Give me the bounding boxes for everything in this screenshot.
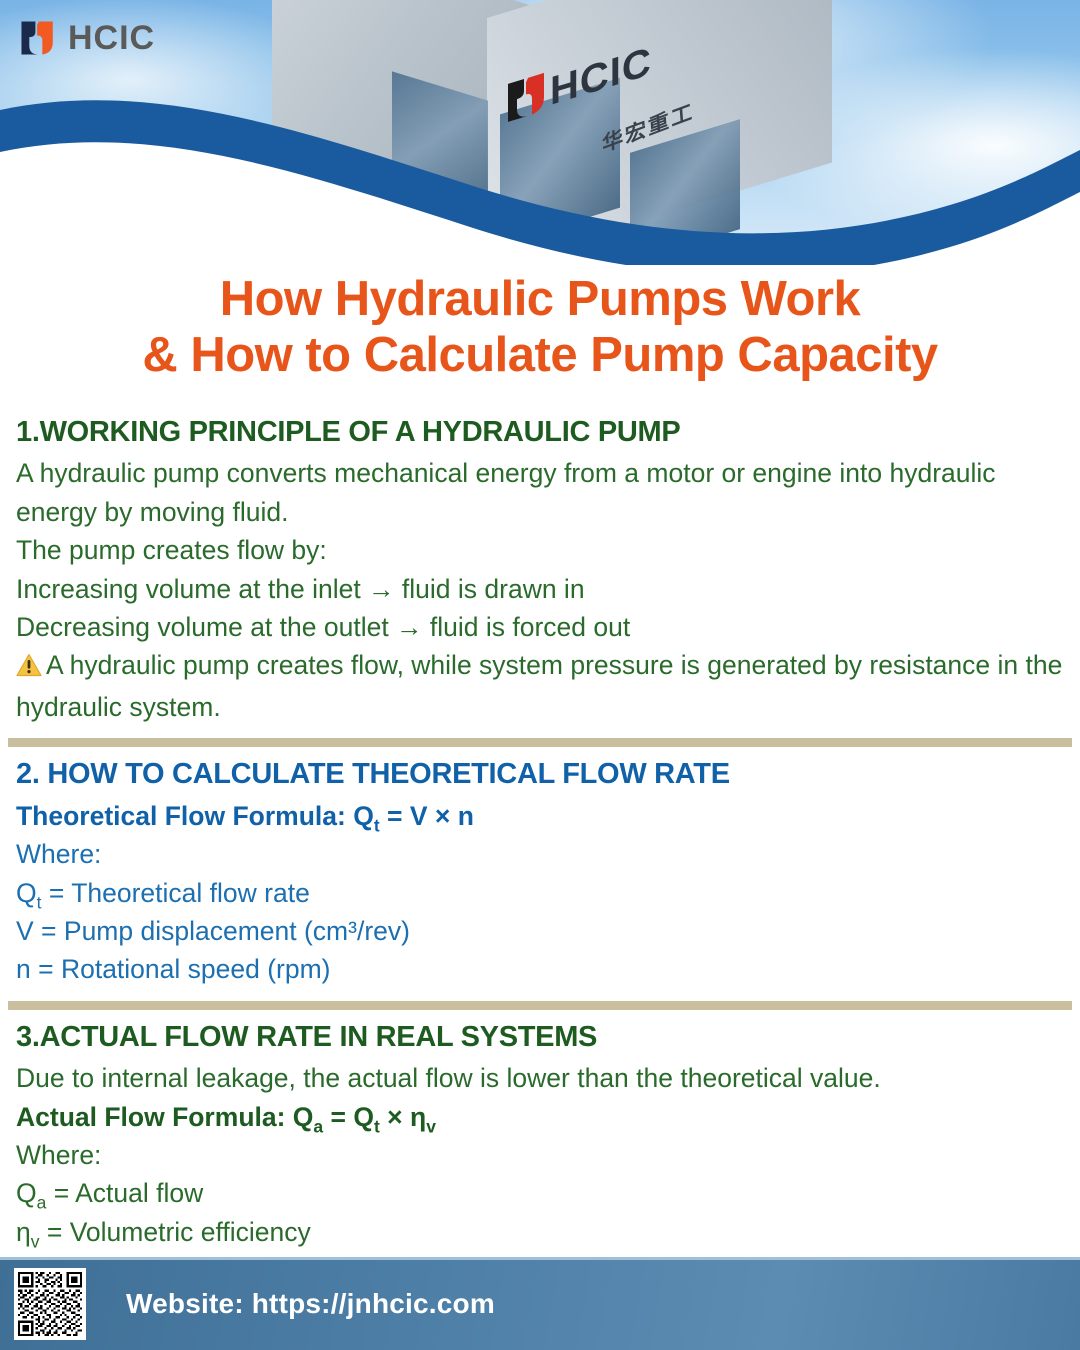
section-3-def-1-subscript: a <box>37 1193 47 1213</box>
page-title: How Hydraulic Pumps Work & How to Calcul… <box>0 272 1080 384</box>
section-1-note: A hydraulic pump creates flow, while sys… <box>16 646 1064 726</box>
section-1-line-3: Increasing volume at the inlet → fluid i… <box>16 570 1064 608</box>
header-banner: HCIC 华宏重工 HCIC <box>0 0 1080 265</box>
section-2-def-1: Qt = Theoretical flow rate <box>16 874 1064 912</box>
hcic-logo-mark-icon <box>18 18 58 58</box>
section-2-def-1-text: = Theoretical flow rate <box>41 878 309 908</box>
brand-logo: HCIC <box>18 18 155 58</box>
brand-logo-text: HCIC <box>68 21 155 55</box>
section-2-formula-rest: = V × n <box>380 801 474 831</box>
qr-code[interactable] <box>14 1268 86 1340</box>
section-3-heading: 3.ACTUAL FLOW RATE IN REAL SYSTEMS <box>16 1020 1064 1055</box>
section-2-formula-symbol: Q <box>353 801 374 831</box>
section-2-def-1-symbol: Q <box>16 878 37 908</box>
section-1-line-1: A hydraulic pump converts mechanical ene… <box>16 454 1064 531</box>
section-3-def-2-subscript: v <box>31 1231 40 1251</box>
section-2-def-2-text: = Pump displacement (cm³/rev) <box>34 916 410 946</box>
section-3-def-2: ηv = Volumetric efficiency <box>16 1213 1064 1251</box>
section-1-line-4: Decreasing volume at the outlet → fluid … <box>16 608 1064 646</box>
section-3-formula-mid: = Q <box>323 1102 374 1132</box>
section-2-formula-label: Theoretical Flow Formula: <box>16 801 353 831</box>
footer-bar: Website: https://jnhcic.com <box>0 1257 1080 1350</box>
section-1-line-2: The pump creates flow by: <box>16 531 1064 569</box>
section-2-def-2: V = Pump displacement (cm³/rev) <box>16 912 1064 950</box>
section-2-formula: Theoretical Flow Formula: Qt = V × n <box>16 797 1064 835</box>
divider-tan-1 <box>8 738 1072 747</box>
section-working-principle: 1.WORKING PRINCIPLE OF A HYDRAULIC PUMP … <box>0 415 1080 726</box>
infographic-page: HCIC 华宏重工 HCIC How Hydraulic Pumps Work … <box>0 0 1080 1350</box>
section-3-def-1-text: = Actual flow <box>46 1178 203 1208</box>
page-title-line-1: How Hydraulic Pumps Work <box>0 272 1080 328</box>
section-3-def-1-symbol: Q <box>16 1178 37 1208</box>
blue-wave-divider <box>0 0 1080 265</box>
section-3-def-2-text: = Volumetric efficiency <box>40 1217 311 1247</box>
section-2-def-3: n = Rotational speed (rpm) <box>16 950 1064 988</box>
section-3-def-1: Qa = Actual flow <box>16 1174 1064 1212</box>
section-2-heading: 2. HOW TO CALCULATE THEORETICAL FLOW RAT… <box>16 757 1064 792</box>
warning-triangle-icon <box>16 649 42 687</box>
section-actual-flow-rate: 3.ACTUAL FLOW RATE IN REAL SYSTEMS Due t… <box>0 1020 1080 1251</box>
page-title-line-2: & How to Calculate Pump Capacity <box>0 328 1080 384</box>
section-3-def-2-symbol: η <box>16 1217 31 1247</box>
section-2-def-3-text: = Rotational speed (rpm) <box>31 954 331 984</box>
section-3-formula-subscript-3: v <box>426 1116 436 1136</box>
website-label[interactable]: Website: https://jnhcic.com <box>126 1288 495 1320</box>
section-3-intro: Due to internal leakage, the actual flow… <box>16 1059 1064 1097</box>
section-2-def-3-symbol: n <box>16 954 31 984</box>
section-3-formula-symbol: Q <box>293 1102 314 1132</box>
section-3-formula-label: Actual Flow Formula: <box>16 1102 293 1132</box>
footer-top-accent-line <box>0 1257 1080 1260</box>
section-1-note-text: A hydraulic pump creates flow, while sys… <box>16 650 1062 721</box>
divider-tan-2 <box>8 1001 1072 1010</box>
section-3-formula-subscript-1: a <box>313 1116 323 1136</box>
content-area: 1.WORKING PRINCIPLE OF A HYDRAULIC PUMP … <box>0 415 1080 1251</box>
section-theoretical-flow-rate: 2. HOW TO CALCULATE THEORETICAL FLOW RAT… <box>0 757 1080 988</box>
section-2-def-2-symbol: V <box>16 916 34 946</box>
section-3-where-label: Where: <box>16 1136 1064 1174</box>
section-3-formula-end: × η <box>380 1102 426 1132</box>
qr-code-icon <box>18 1272 82 1336</box>
section-1-heading: 1.WORKING PRINCIPLE OF A HYDRAULIC PUMP <box>16 415 1064 450</box>
section-2-where-label: Where: <box>16 835 1064 873</box>
section-3-formula: Actual Flow Formula: Qa = Qt × ηv <box>16 1098 1064 1136</box>
